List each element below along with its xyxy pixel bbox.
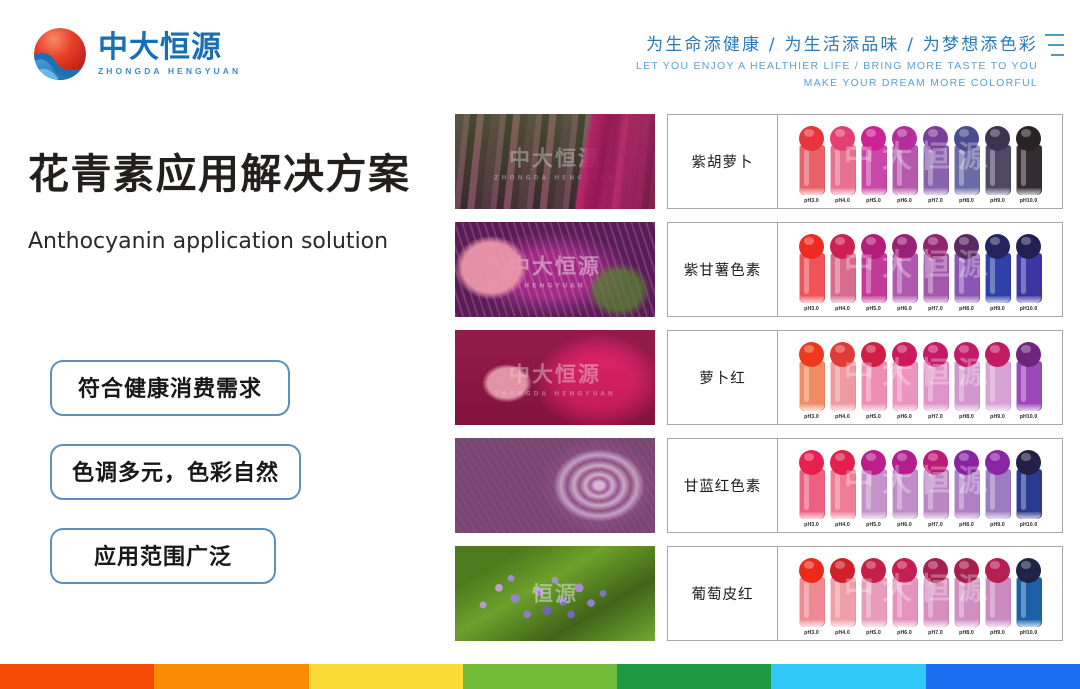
vial-ph-label: pH3.0 — [804, 198, 819, 204]
vial-cap — [799, 126, 824, 151]
vial-ph-label: pH5.0 — [866, 630, 881, 636]
vial-ph-label: pH10.0 — [1020, 198, 1038, 204]
vial-ph-label: pH8.0 — [959, 630, 974, 636]
vial-cap — [892, 234, 917, 259]
ph-color-table: 紫胡萝卜pH3.0pH4.0pH5.0pH6.0pH7.0pH8.0pH9.0p… — [667, 114, 1063, 654]
vial-body — [985, 253, 1011, 303]
vial-ph-label: pH5.0 — [866, 522, 881, 528]
photo-watermark: 恒源 — [455, 578, 655, 610]
vial-body — [1016, 469, 1042, 519]
vial-cap — [892, 342, 917, 367]
vial-body — [892, 469, 918, 519]
vial-cap — [985, 342, 1010, 367]
vial-ph-label: pH6.0 — [897, 522, 912, 528]
vial-ph-label: pH7.0 — [928, 198, 943, 204]
company-logo[interactable]: 中大恒源 ZHONGDA HENGYUAN — [32, 26, 241, 82]
vial-ph-label: pH5.0 — [866, 306, 881, 312]
left-panel: 花青素应用解决方案 Anthocyanin application soluti… — [0, 108, 450, 648]
vial-series: pH3.0pH4.0pH5.0pH6.0pH7.0pH8.0pH9.0pH10.… — [778, 547, 1062, 640]
vial-cap — [861, 342, 886, 367]
vial-ph-label: pH5.0 — [866, 198, 881, 204]
vial-ph-label: pH9.0 — [990, 198, 1005, 204]
vial-ph8-0: pH8.0 — [952, 558, 981, 636]
vial-cap — [1016, 558, 1041, 583]
vial-cap — [830, 126, 855, 151]
vial-body — [830, 577, 856, 627]
vial-cap — [954, 126, 979, 151]
vial-cap — [861, 234, 886, 259]
vial-ph5-0: pH5.0 — [859, 126, 888, 204]
vial-cap — [830, 234, 855, 259]
vial-cap — [985, 126, 1010, 151]
vial-body — [799, 469, 825, 519]
vial-ph-label: pH4.0 — [835, 414, 850, 420]
vial-ph-label: pH10.0 — [1020, 306, 1038, 312]
vial-ph10-0: pH10.0 — [1014, 342, 1043, 420]
vial-ph-label: pH4.0 — [835, 198, 850, 204]
vial-ph3-0: pH3.0 — [797, 450, 826, 528]
vial-body — [923, 469, 949, 519]
vial-cap — [985, 558, 1010, 583]
vial-ph5-0: pH5.0 — [859, 342, 888, 420]
vial-ph-label: pH8.0 — [959, 198, 974, 204]
vial-ph3-0: pH3.0 — [797, 558, 826, 636]
vial-body — [985, 145, 1011, 195]
table-row: 萝卜红pH3.0pH4.0pH5.0pH6.0pH7.0pH8.0pH9.0pH… — [667, 330, 1063, 425]
tagline-english-line2: MAKE YOUR DREAM MORE COLORFUL — [636, 77, 1038, 89]
vial-body — [1016, 577, 1042, 627]
vial-ph-label: pH8.0 — [959, 522, 974, 528]
vial-cap — [1016, 450, 1041, 475]
vial-ph9-0: pH9.0 — [983, 558, 1012, 636]
pigment-name-cell: 萝卜红 — [668, 331, 778, 424]
photo-watermark — [455, 485, 655, 487]
photo-watermark: 中大恒源ZHONGDA HENGYUAN — [455, 358, 655, 397]
vial-ph-label: pH4.0 — [835, 522, 850, 528]
vial-body — [923, 145, 949, 195]
vial-cap — [892, 450, 917, 475]
vial-ph3-0: pH3.0 — [797, 342, 826, 420]
vial-body — [861, 577, 887, 627]
vial-body — [799, 145, 825, 195]
tagline-decor-bars-icon — [1045, 34, 1064, 56]
vial-cap — [923, 234, 948, 259]
vial-ph-label: pH7.0 — [928, 306, 943, 312]
logo-company-name-en: ZHONGDA HENGYUAN — [98, 66, 241, 76]
rainbow-segment-1 — [0, 664, 154, 689]
vial-ph4-0: pH4.0 — [828, 234, 857, 312]
vial-ph9-0: pH9.0 — [983, 342, 1012, 420]
logo-company-name-cn: 中大恒源 — [98, 32, 241, 64]
vial-body — [985, 361, 1011, 411]
vial-ph4-0: pH4.0 — [828, 126, 857, 204]
vial-ph7-0: pH7.0 — [921, 450, 950, 528]
vial-ph-label: pH7.0 — [928, 414, 943, 420]
vial-ph-label: pH9.0 — [990, 306, 1005, 312]
tagline-english-line1: LET YOU ENJOY A HEALTHIER LIFE / BRING M… — [636, 60, 1038, 72]
rainbow-segment-3 — [309, 664, 463, 689]
vial-body — [954, 577, 980, 627]
vial-cap — [830, 450, 855, 475]
vial-cap — [1016, 342, 1041, 367]
vial-ph-label: pH10.0 — [1020, 630, 1038, 636]
vial-ph-label: pH4.0 — [835, 630, 850, 636]
vial-body — [830, 361, 856, 411]
vial-ph10-0: pH10.0 — [1014, 234, 1043, 312]
vial-body — [1016, 145, 1042, 195]
vial-body — [923, 577, 949, 627]
rainbow-segment-4 — [463, 664, 617, 689]
vial-series: pH3.0pH4.0pH5.0pH6.0pH7.0pH8.0pH9.0pH10.… — [778, 115, 1062, 208]
vial-ph5-0: pH5.0 — [859, 450, 888, 528]
vial-body — [923, 253, 949, 303]
vial-ph3-0: pH3.0 — [797, 234, 826, 312]
vial-ph4-0: pH4.0 — [828, 450, 857, 528]
vial-body — [985, 469, 1011, 519]
logo-text: 中大恒源 ZHONGDA HENGYUAN — [98, 32, 241, 77]
pigment-name-cell: 甘蓝红色素 — [668, 439, 778, 532]
vial-cap — [861, 450, 886, 475]
vial-ph-label: pH6.0 — [897, 306, 912, 312]
feature-pill-2[interactable]: 色调多元，色彩自然 — [50, 444, 301, 500]
vial-ph6-0: pH6.0 — [890, 342, 919, 420]
vial-ph-label: pH7.0 — [928, 522, 943, 528]
pigment-name-cell: 紫甘薯色素 — [668, 223, 778, 316]
vial-series: pH3.0pH4.0pH5.0pH6.0pH7.0pH8.0pH9.0pH10.… — [778, 223, 1062, 316]
pigment-name-cell: 紫胡萝卜 — [668, 115, 778, 208]
vial-ph-label: pH7.0 — [928, 630, 943, 636]
vial-body — [799, 577, 825, 627]
tagline-block: 为生命添健康 / 为生活添品味 / 为梦想添色彩 LET YOU ENJOY A… — [636, 30, 1038, 89]
feature-list: 符合健康消费需求 色调多元，色彩自然 应用范围广泛 — [50, 360, 450, 612]
vial-ph-label: pH3.0 — [804, 522, 819, 528]
vial-ph7-0: pH7.0 — [921, 558, 950, 636]
photo-red-cabbage — [455, 438, 655, 533]
vial-body — [830, 469, 856, 519]
vial-body — [954, 253, 980, 303]
vial-ph8-0: pH8.0 — [952, 234, 981, 312]
vial-body — [1016, 361, 1042, 411]
vial-ph6-0: pH6.0 — [890, 126, 919, 204]
vial-body — [954, 361, 980, 411]
vial-ph10-0: pH10.0 — [1014, 450, 1043, 528]
vial-cap — [954, 558, 979, 583]
vial-cap — [861, 558, 886, 583]
page-header: 中大恒源 ZHONGDA HENGYUAN 为生命添健康 / 为生活添品味 / … — [0, 0, 1080, 108]
vial-cap — [923, 450, 948, 475]
vial-cap — [892, 558, 917, 583]
vial-ph8-0: pH8.0 — [952, 126, 981, 204]
vial-body — [830, 253, 856, 303]
vial-body — [861, 253, 887, 303]
table-row: 紫甘薯色素pH3.0pH4.0pH5.0pH6.0pH7.0pH8.0pH9.0… — [667, 222, 1063, 317]
vial-ph-label: pH10.0 — [1020, 414, 1038, 420]
vial-body — [954, 469, 980, 519]
vial-cap — [923, 558, 948, 583]
vial-ph7-0: pH7.0 — [921, 342, 950, 420]
photo-purple-carrot: 中大恒源ZHONGDA HENGYUAN — [455, 114, 655, 209]
vial-ph-label: pH3.0 — [804, 306, 819, 312]
vial-ph-label: pH3.0 — [804, 414, 819, 420]
vial-ph-label: pH4.0 — [835, 306, 850, 312]
vial-cap — [923, 126, 948, 151]
feature-pill-3[interactable]: 应用范围广泛 — [50, 528, 276, 584]
vial-ph5-0: pH5.0 — [859, 234, 888, 312]
vial-ph10-0: pH10.0 — [1014, 126, 1043, 204]
photo-watermark: 中大恒源HENGYUAN — [455, 250, 655, 289]
vial-ph7-0: pH7.0 — [921, 126, 950, 204]
vial-body — [799, 361, 825, 411]
vial-cap — [985, 234, 1010, 259]
vial-body — [892, 361, 918, 411]
vial-ph7-0: pH7.0 — [921, 234, 950, 312]
tagline-chinese: 为生命添健康 / 为生活添品味 / 为梦想添色彩 — [636, 30, 1038, 55]
vial-cap — [985, 450, 1010, 475]
rainbow-segment-6 — [771, 664, 925, 689]
vial-body — [861, 469, 887, 519]
vial-ph6-0: pH6.0 — [890, 234, 919, 312]
vial-ph-label: pH9.0 — [990, 522, 1005, 528]
vial-cap — [799, 450, 824, 475]
vial-ph-label: pH8.0 — [959, 414, 974, 420]
vial-ph3-0: pH3.0 — [797, 126, 826, 204]
vial-body — [861, 361, 887, 411]
photo-red-radish: 中大恒源ZHONGDA HENGYUAN — [455, 330, 655, 425]
pigment-name-cell: 葡萄皮红 — [668, 547, 778, 640]
vial-body — [954, 145, 980, 195]
vial-cap — [861, 126, 886, 151]
vial-ph-label: pH10.0 — [1020, 522, 1038, 528]
vial-series: pH3.0pH4.0pH5.0pH6.0pH7.0pH8.0pH9.0pH10.… — [778, 331, 1062, 424]
vial-ph-label: pH8.0 — [959, 306, 974, 312]
vial-ph8-0: pH8.0 — [952, 450, 981, 528]
rainbow-segment-7 — [926, 664, 1080, 689]
vial-ph9-0: pH9.0 — [983, 450, 1012, 528]
footer-rainbow-bar — [0, 664, 1080, 689]
vial-ph4-0: pH4.0 — [828, 342, 857, 420]
vial-ph-label: pH9.0 — [990, 414, 1005, 420]
vial-ph-label: pH6.0 — [897, 630, 912, 636]
vial-ph4-0: pH4.0 — [828, 558, 857, 636]
vial-cap — [954, 450, 979, 475]
vial-body — [892, 253, 918, 303]
vial-body — [923, 361, 949, 411]
vial-body — [861, 145, 887, 195]
vial-ph9-0: pH9.0 — [983, 234, 1012, 312]
vial-body — [830, 145, 856, 195]
photo-watermark: 中大恒源ZHONGDA HENGYUAN — [455, 142, 655, 181]
vial-cap — [892, 126, 917, 151]
photo-purple-sweet-potato: 中大恒源HENGYUAN — [455, 222, 655, 317]
vial-cap — [954, 342, 979, 367]
vial-ph6-0: pH6.0 — [890, 450, 919, 528]
vial-ph-label: pH6.0 — [897, 198, 912, 204]
rainbow-segment-2 — [154, 664, 308, 689]
page-subtitle: Anthocyanin application solution — [28, 226, 398, 257]
page-title: 花青素应用解决方案 — [28, 140, 411, 200]
vial-body — [799, 253, 825, 303]
feature-pill-1[interactable]: 符合健康消费需求 — [50, 360, 290, 416]
vial-body — [892, 145, 918, 195]
vial-ph9-0: pH9.0 — [983, 126, 1012, 204]
vial-cap — [954, 234, 979, 259]
vial-cap — [923, 342, 948, 367]
table-row: 葡萄皮红pH3.0pH4.0pH5.0pH6.0pH7.0pH8.0pH9.0p… — [667, 546, 1063, 641]
table-row: 甘蓝红色素pH3.0pH4.0pH5.0pH6.0pH7.0pH8.0pH9.0… — [667, 438, 1063, 533]
photo-grapes: 恒源 — [455, 546, 655, 641]
vial-ph10-0: pH10.0 — [1014, 558, 1043, 636]
vial-cap — [799, 558, 824, 583]
vial-body — [985, 577, 1011, 627]
source-photo-column: 中大恒源ZHONGDA HENGYUAN 中大恒源HENGYUAN 中大恒源ZH… — [455, 114, 655, 654]
vial-ph-label: pH3.0 — [804, 630, 819, 636]
vial-ph5-0: pH5.0 — [859, 558, 888, 636]
logo-mark-icon — [32, 26, 88, 82]
vial-cap — [1016, 126, 1041, 151]
vial-cap — [799, 234, 824, 259]
vial-ph-label: pH9.0 — [990, 630, 1005, 636]
vial-ph8-0: pH8.0 — [952, 342, 981, 420]
table-row: 紫胡萝卜pH3.0pH4.0pH5.0pH6.0pH7.0pH8.0pH9.0p… — [667, 114, 1063, 209]
vial-series: pH3.0pH4.0pH5.0pH6.0pH7.0pH8.0pH9.0pH10.… — [778, 439, 1062, 532]
vial-cap — [799, 342, 824, 367]
vial-cap — [830, 342, 855, 367]
vial-cap — [830, 558, 855, 583]
vial-ph-label: pH6.0 — [897, 414, 912, 420]
vial-ph-label: pH5.0 — [866, 414, 881, 420]
vial-ph6-0: pH6.0 — [890, 558, 919, 636]
vial-body — [892, 577, 918, 627]
vial-cap — [1016, 234, 1041, 259]
rainbow-segment-5 — [617, 664, 771, 689]
vial-body — [1016, 253, 1042, 303]
